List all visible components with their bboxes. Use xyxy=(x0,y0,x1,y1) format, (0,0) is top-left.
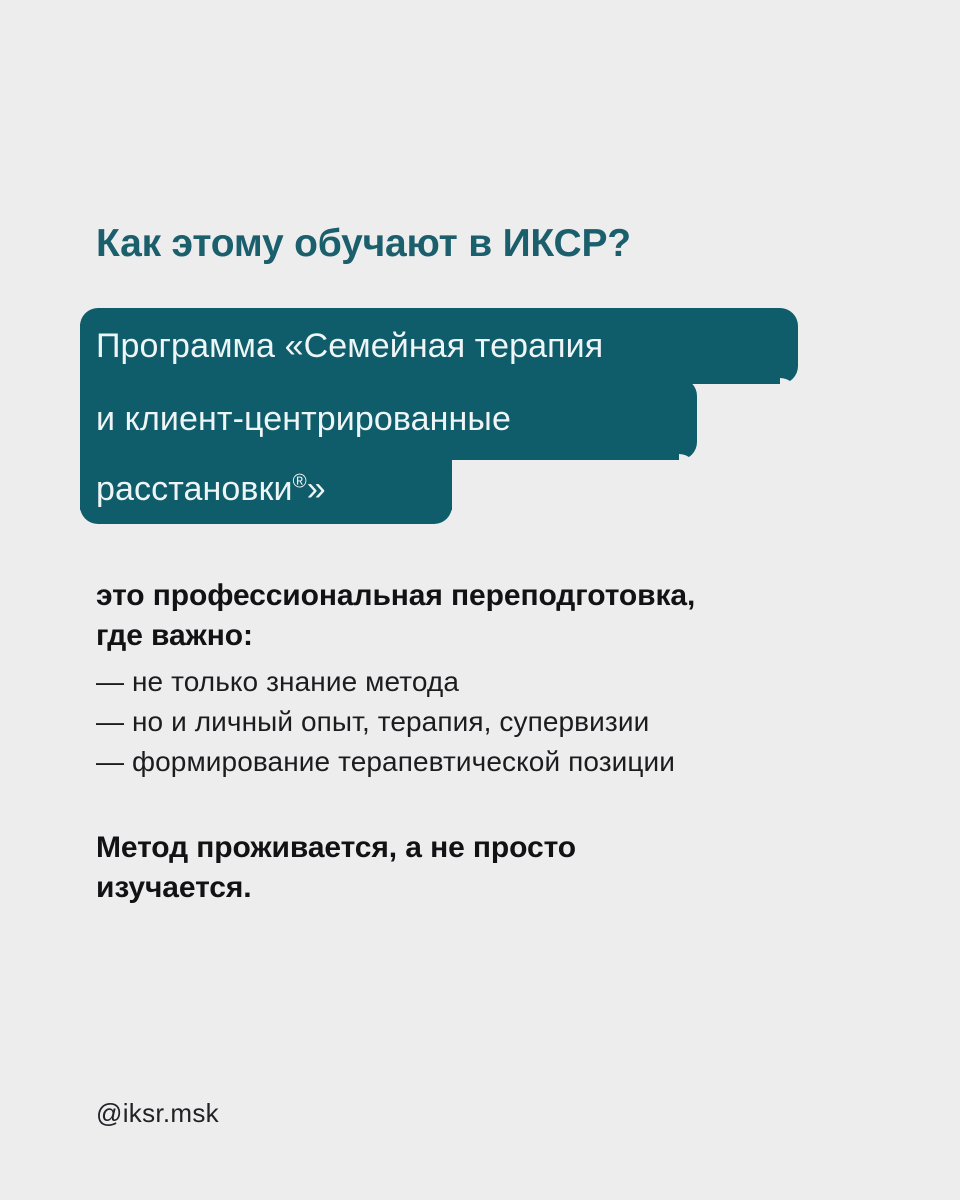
banner-row-3: расстановки®» xyxy=(80,454,452,524)
banner-row-1: Программа «Семейная терапия xyxy=(80,308,798,384)
registered-trademark-icon: ® xyxy=(293,472,307,493)
lead-line-1: это профессиональная переподготовка, xyxy=(96,579,695,612)
banner-notch-2 xyxy=(679,454,697,472)
closing-line-2: изучается. xyxy=(96,871,252,904)
list-item: — но и личный опыт, терапия, супервизии xyxy=(96,702,886,742)
page-title: Как этому обучают в ИКСР? xyxy=(96,222,876,266)
banner-row-3-text: расстановки®» xyxy=(96,472,326,506)
slide-canvas: Как этому обучают в ИКСР? Программа «Сем… xyxy=(0,0,960,1200)
banner-row-2-text: и клиент-центрированные xyxy=(96,402,511,436)
lead-paragraph: это профессиональная переподготовка, где… xyxy=(96,576,886,656)
banner-row-3-suffix: » xyxy=(307,470,326,508)
account-handle: @iksr.msk xyxy=(96,1098,219,1129)
requirements-list: — не только знание метода — но и личный … xyxy=(96,662,886,782)
list-item: — формирование терапевтической позиции xyxy=(96,742,886,782)
body-content: это профессиональная переподготовка, где… xyxy=(96,576,886,908)
list-item: — не только знание метода xyxy=(96,662,886,702)
closing-statement: Метод проживается, а не просто изучается… xyxy=(96,828,736,908)
banner-notch-1 xyxy=(780,378,798,396)
program-title-banner: Программа «Семейная терапия и клиент-цен… xyxy=(80,308,820,524)
banner-row-1-text: Программа «Семейная терапия xyxy=(96,329,603,363)
closing-line-1: Метод проживается, а не просто xyxy=(96,831,576,864)
banner-row-2: и клиент-центрированные xyxy=(80,378,697,460)
lead-line-2: где важно: xyxy=(96,619,253,652)
banner-row-3-prefix: расстановки xyxy=(96,470,293,508)
